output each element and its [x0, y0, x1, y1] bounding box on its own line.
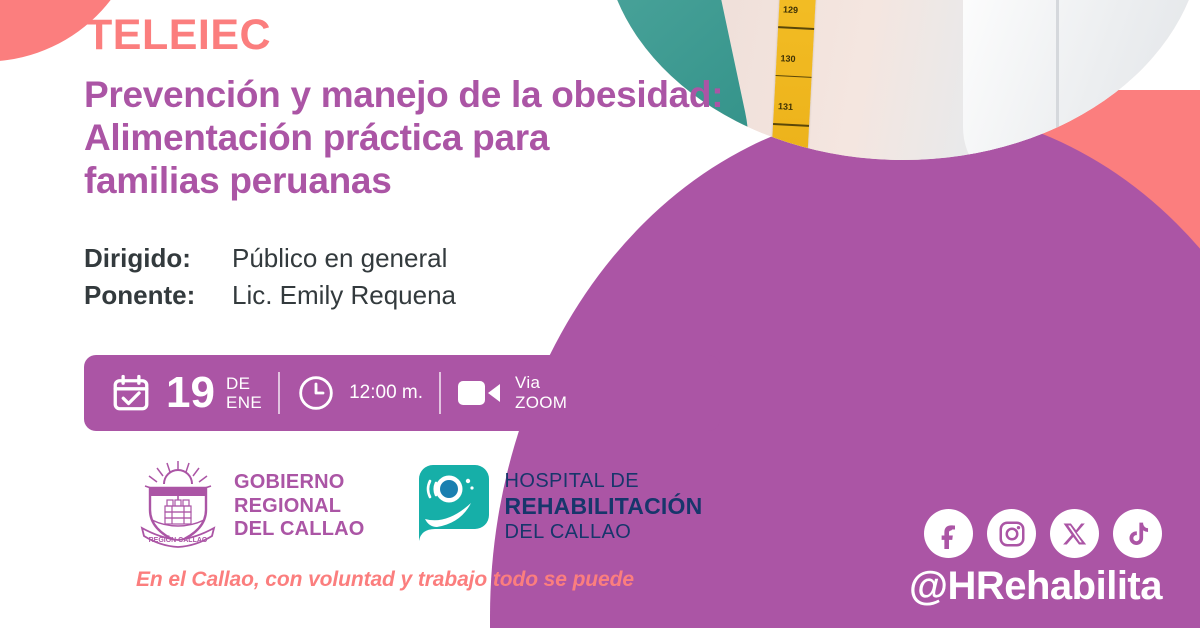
- x-twitter-icon[interactable]: [1050, 509, 1099, 558]
- gobierno-regional-logo: REGIÓN CALLAO GOBIERNO REGIONAL DEL CALL…: [134, 458, 365, 555]
- meta-row-speaker: Ponente: Lic. Emily Requena: [84, 280, 456, 311]
- month-abbr: ENE: [226, 393, 262, 412]
- title-line-1: Prevención y manejo de la obesidad:: [84, 74, 784, 117]
- hospital-logo: HOSPITAL DE REHABILITACIÓN DEL CALLAO: [413, 463, 703, 550]
- page-title: Prevención y manejo de la obesidad: Alim…: [84, 74, 784, 203]
- institutional-tagline: En el Callao, con voluntad y trabajo tod…: [136, 568, 634, 592]
- event-platform: Via ZOOM: [515, 373, 567, 412]
- social-icon-row: [909, 509, 1162, 558]
- month-prefix: DE: [226, 374, 262, 393]
- event-day: 19: [166, 371, 215, 415]
- tiktok-icon[interactable]: [1113, 509, 1162, 558]
- divider: [439, 372, 441, 414]
- social-block: @HRehabilita: [909, 509, 1162, 606]
- meta-value: Público en general: [232, 243, 447, 274]
- gobierno-line-1: GOBIERNO: [234, 471, 365, 495]
- event-time: 12:00 m.: [349, 382, 423, 404]
- promotional-poster: 128 129 130 131 TELEIEC Prevención y man…: [0, 0, 1200, 628]
- hospital-wordmark: HOSPITAL DE REHABILITACIÓN DEL CALLAO: [505, 469, 703, 545]
- platform-segment: Via ZOOM: [457, 373, 567, 412]
- hospital-rehabilitation-mark-icon: [413, 463, 491, 550]
- clock-icon: [296, 373, 336, 413]
- video-camera-icon: [457, 376, 503, 410]
- hospital-line-1: HOSPITAL DE: [505, 469, 703, 493]
- hospital-line-3: DEL CALLAO: [505, 520, 703, 544]
- gobierno-line-3: DEL CALLAO: [234, 518, 365, 542]
- gobierno-wordmark: GOBIERNO REGIONAL DEL CALLAO: [234, 471, 365, 542]
- program-kicker: TELEIEC: [86, 14, 271, 57]
- instagram-icon[interactable]: [987, 509, 1036, 558]
- time-segment: 12:00 m.: [296, 373, 423, 413]
- meta-label: Dirigido:: [84, 243, 232, 274]
- gobierno-line-2: REGIONAL: [234, 495, 365, 519]
- platform-name: ZOOM: [515, 393, 567, 413]
- event-details-bar: 19 DE ENE 12:00 m.: [84, 355, 720, 431]
- callao-regional-crest-icon: REGIÓN CALLAO: [134, 458, 222, 555]
- photo-white-coat: [963, 0, 1200, 160]
- meta-row-audience: Dirigido: Público en general: [84, 243, 456, 274]
- title-line-3: familias peruanas: [84, 160, 784, 203]
- tape-number: 129: [783, 5, 799, 16]
- platform-prefix: Via: [515, 373, 567, 393]
- event-meta: Dirigido: Público en general Ponente: Li…: [84, 243, 456, 317]
- crest-motto: REGIÓN CALLAO: [149, 535, 208, 544]
- calendar-check-icon: [110, 372, 152, 414]
- photo-coat-seam: [1056, 0, 1059, 160]
- meta-value: Lic. Emily Requena: [232, 280, 456, 311]
- date-segment: 19 DE ENE: [110, 371, 262, 415]
- social-handle: @HRehabilita: [909, 566, 1162, 606]
- facebook-icon[interactable]: [924, 509, 973, 558]
- divider: [278, 372, 280, 414]
- meta-label: Ponente:: [84, 280, 232, 311]
- hospital-line-2: REHABILITACIÓN: [505, 493, 703, 521]
- title-line-2: Alimentación práctica para: [84, 117, 784, 160]
- tape-number: 130: [780, 53, 796, 64]
- logo-row: REGIÓN CALLAO GOBIERNO REGIONAL DEL CALL…: [134, 458, 702, 555]
- event-month: DE ENE: [226, 374, 262, 412]
